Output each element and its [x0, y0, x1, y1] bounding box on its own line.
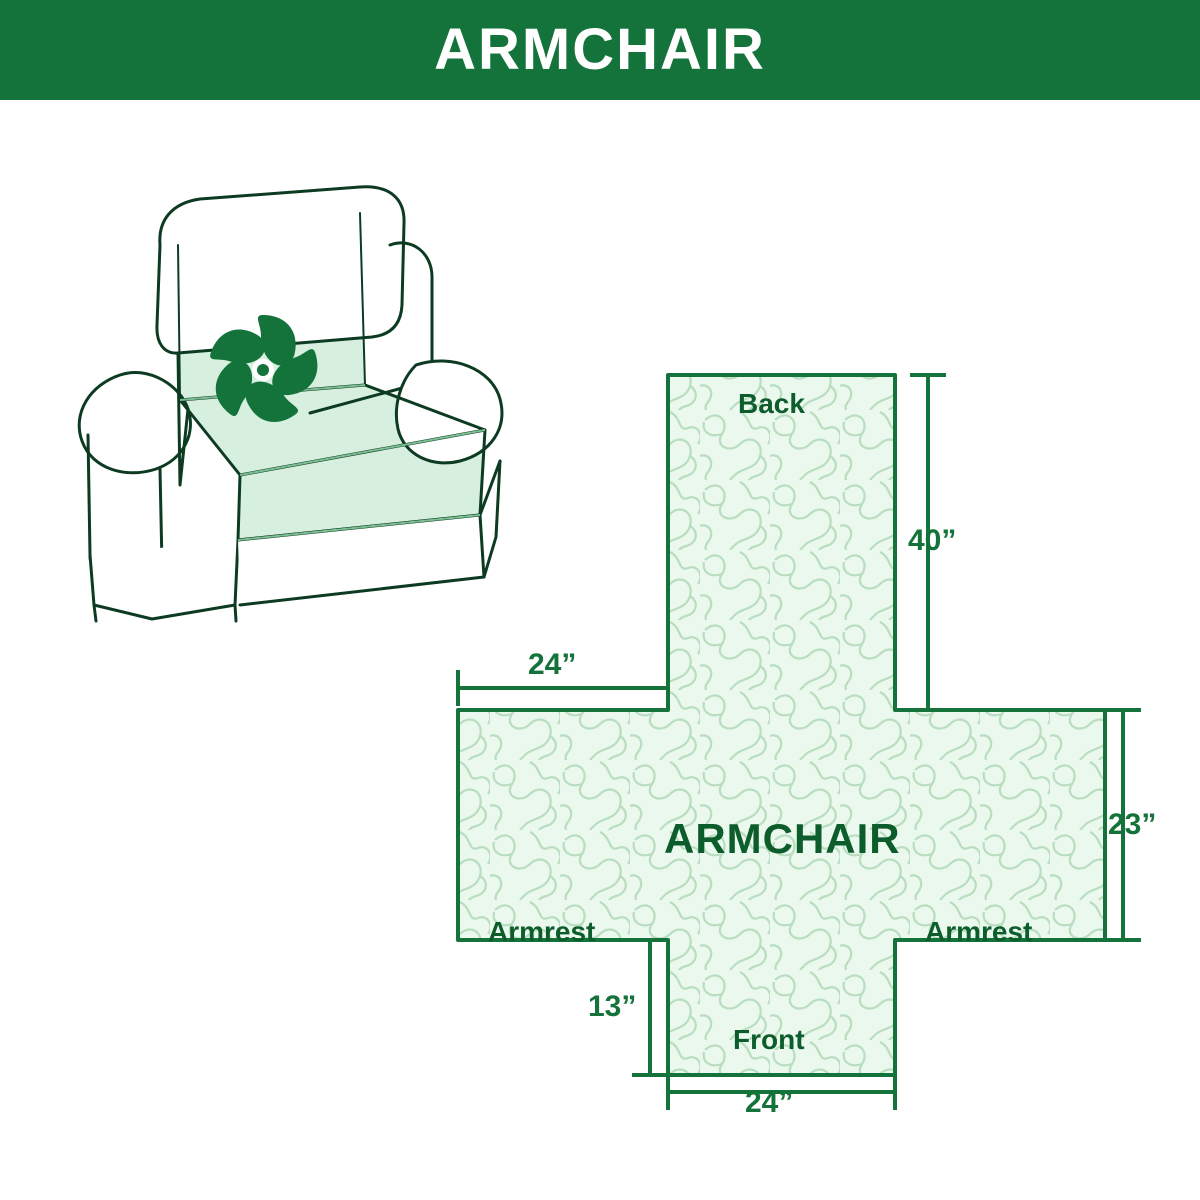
region-label-front: Front	[733, 1026, 805, 1054]
dimension-label-front-width: 24”	[745, 1088, 793, 1118]
region-label-armrest-left: Armrest	[488, 918, 595, 946]
diagram-center-label: ARMCHAIR	[664, 818, 901, 860]
dimension-label-seat-depth: 23”	[1108, 810, 1156, 840]
dimension-label-back-width: 24”	[528, 650, 576, 680]
cross-shape	[420, 340, 1180, 1140]
header-bar: ARMCHAIR	[0, 0, 1200, 100]
page-title: ARMCHAIR	[434, 21, 766, 79]
cover-pattern-diagram: Back ARMCHAIR Armrest Armrest Front 40” …	[420, 340, 1180, 1140]
region-label-back: Back	[738, 390, 805, 418]
dimension-label-front-height: 13”	[588, 992, 636, 1022]
dimension-line-front-height	[632, 940, 668, 1075]
region-label-armrest-right: Armrest	[925, 918, 1032, 946]
dimension-label-back-height: 40”	[908, 526, 956, 556]
page-root: ARMCHAIR	[0, 0, 1200, 1200]
